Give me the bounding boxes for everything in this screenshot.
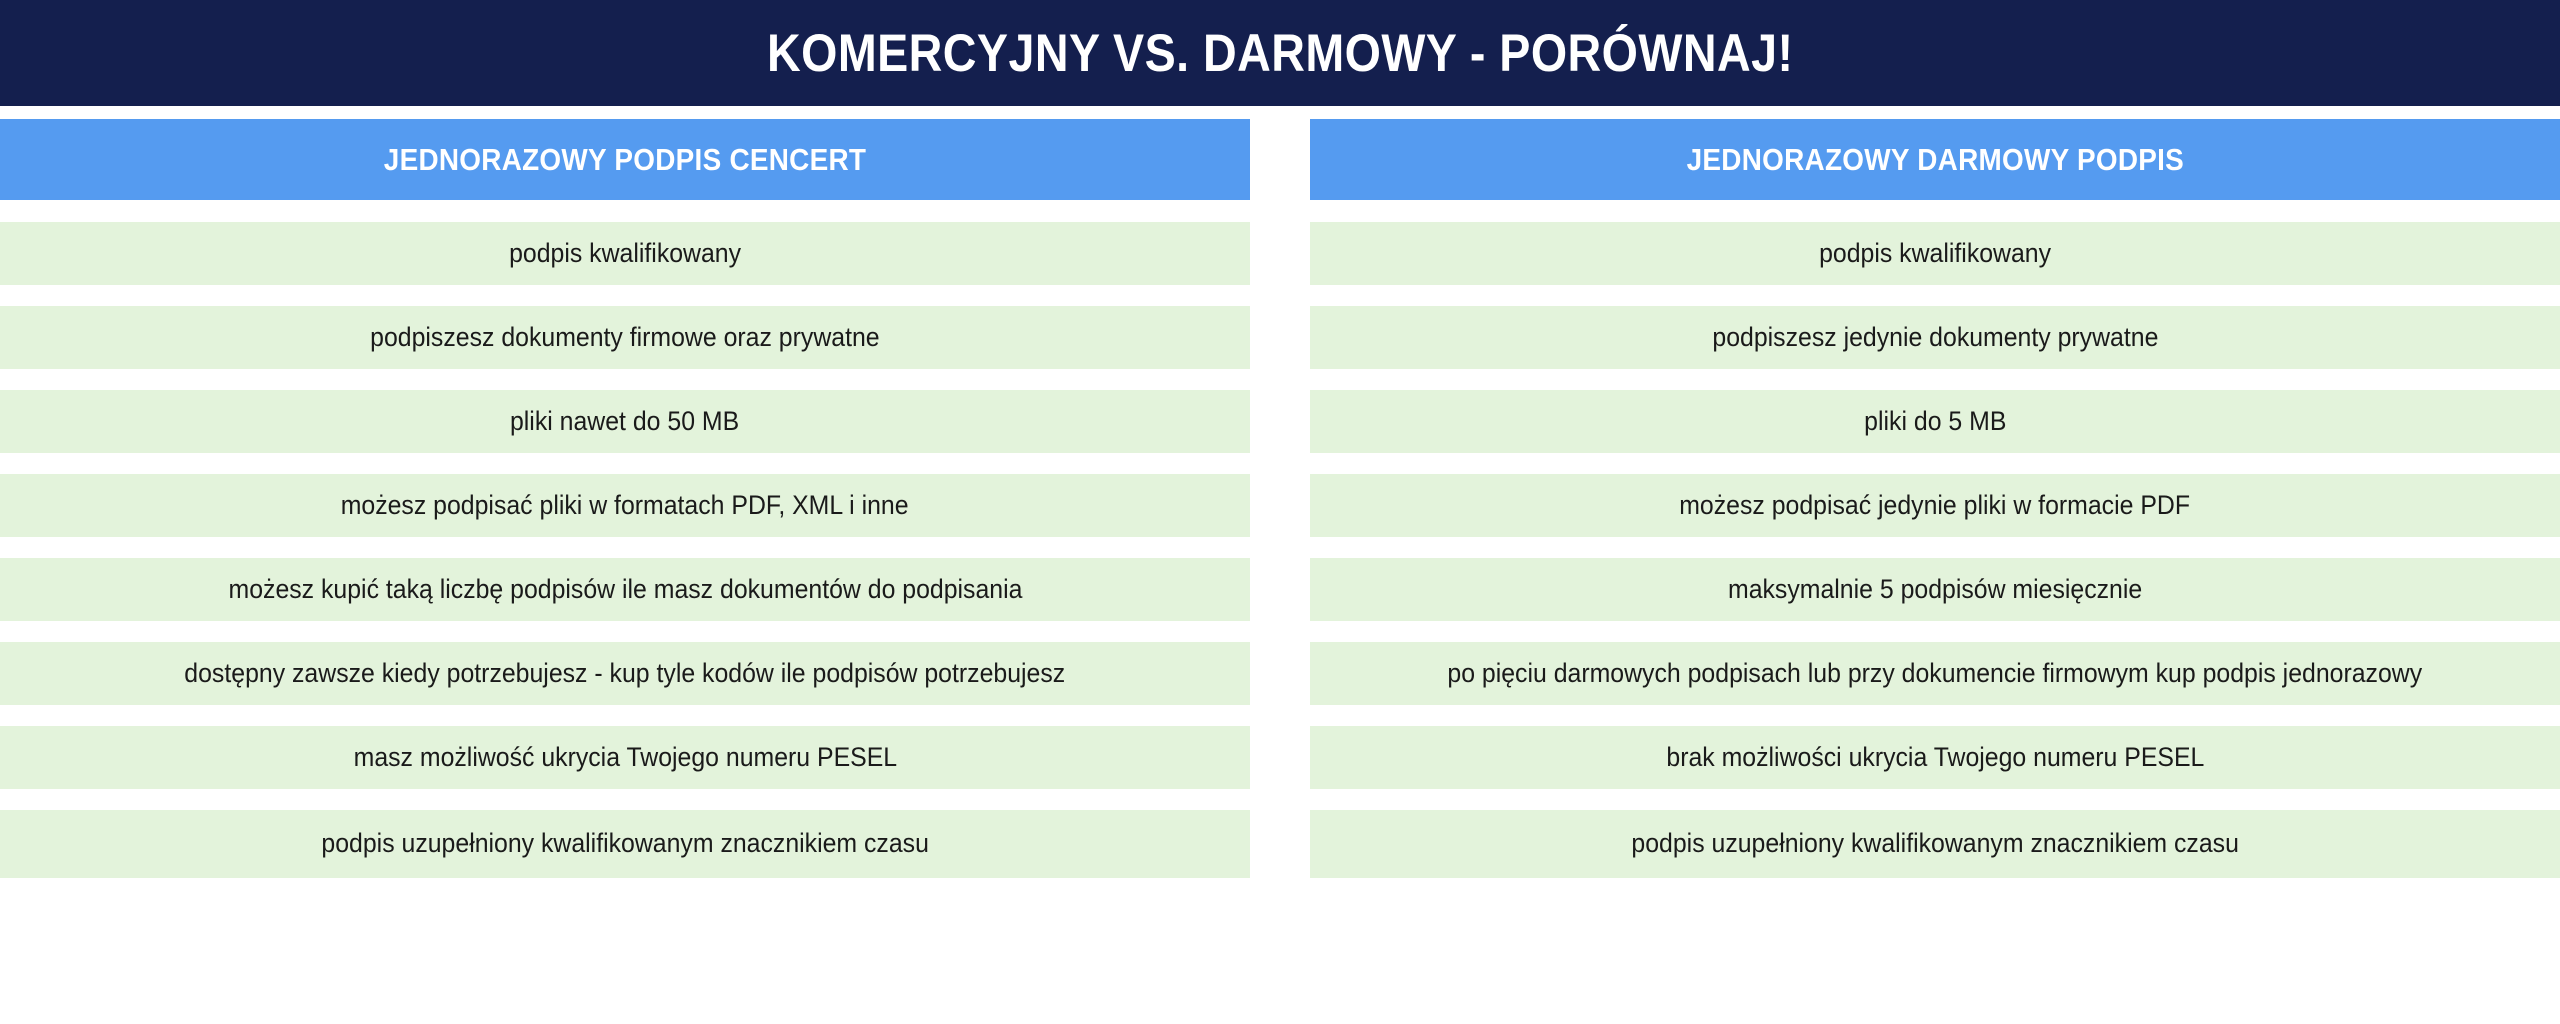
cell-text: podpis uzupełniony kwalifikowanym znaczn…	[312, 829, 938, 859]
table-row: podpis uzupełniony kwalifikowanym znaczn…	[0, 810, 1250, 878]
table-row: po pięciu darmowych podpisach lub przy d…	[1310, 642, 2560, 705]
cell-text: masz możliwość ukrycia Twojego numeru PE…	[344, 743, 906, 773]
cell-text: po pięciu darmowych podpisach lub przy d…	[1438, 659, 2431, 689]
table-row: brak możliwości ukrycia Twojego numeru P…	[1310, 726, 2560, 789]
column-header-free-label: JEDNORAZOWY DARMOWY PODPIS	[1686, 144, 2183, 175]
column-header-commercial-label: JEDNORAZOWY PODPIS CENCERT	[384, 144, 866, 175]
cell-text: dostępny zawsze kiedy potrzebujesz - kup…	[175, 659, 1074, 689]
cell-text: możesz podpisać jedynie pliki w formacie…	[1670, 491, 2199, 521]
table-row: możesz podpisać pliki w formatach PDF, X…	[0, 474, 1250, 537]
banner-title: KOMERCYJNY VS. DARMOWY - PORÓWNAJ!	[767, 27, 1793, 80]
column-gutter	[1250, 119, 1310, 1024]
cell-text: brak możliwości ukrycia Twojego numeru P…	[1657, 743, 2213, 773]
comparison-table: JEDNORAZOWY PODPIS CENCERT podpis kwalif…	[0, 106, 2560, 1024]
table-row: masz możliwość ukrycia Twojego numeru PE…	[0, 726, 1250, 789]
column-header-commercial: JEDNORAZOWY PODPIS CENCERT	[0, 119, 1250, 200]
cell-text: możesz kupić taką liczbę podpisów ile ma…	[219, 575, 1031, 605]
table-row: dostępny zawsze kiedy potrzebujesz - kup…	[0, 642, 1250, 705]
cell-text: podpis kwalifikowany	[500, 239, 750, 269]
table-row: podpiszesz dokumenty firmowe oraz prywat…	[0, 306, 1250, 369]
cell-text: podpis uzupełniony kwalifikowanym znaczn…	[1622, 829, 2248, 859]
table-row: maksymalnie 5 podpisów miesięcznie	[1310, 558, 2560, 621]
banner: KOMERCYJNY VS. DARMOWY - PORÓWNAJ!	[0, 0, 2560, 106]
table-row: podpis kwalifikowany	[0, 222, 1250, 285]
table-row: możesz podpisać jedynie pliki w formacie…	[1310, 474, 2560, 537]
table-row: podpiszesz jedynie dokumenty prywatne	[1310, 306, 2560, 369]
cell-text: podpiszesz jedynie dokumenty prywatne	[1703, 323, 2167, 353]
table-row: pliki nawet do 50 MB	[0, 390, 1250, 453]
comparison-column-commercial-rows: podpis kwalifikowany podpiszesz dokument…	[0, 222, 1250, 1024]
comparison-column-free-rows: podpis kwalifikowany podpiszesz jedynie …	[1310, 222, 2560, 1024]
cell-text: pliki do 5 MB	[1855, 407, 2016, 437]
cell-text: możesz podpisać pliki w formatach PDF, X…	[332, 491, 918, 521]
cell-text: podpis kwalifikowany	[1810, 239, 2060, 269]
table-row: możesz kupić taką liczbę podpisów ile ma…	[0, 558, 1250, 621]
table-row: pliki do 5 MB	[1310, 390, 2560, 453]
cell-text: pliki nawet do 50 MB	[501, 407, 749, 437]
cell-text: podpiszesz dokumenty firmowe oraz prywat…	[361, 323, 889, 353]
table-row: podpis kwalifikowany	[1310, 222, 2560, 285]
comparison-infographic: KOMERCYJNY VS. DARMOWY - PORÓWNAJ! JEDNO…	[0, 0, 2560, 1024]
table-row: podpis uzupełniony kwalifikowanym znaczn…	[1310, 810, 2560, 878]
comparison-column-free: JEDNORAZOWY DARMOWY PODPIS podpis kwalif…	[1310, 119, 2560, 1024]
comparison-column-commercial: JEDNORAZOWY PODPIS CENCERT podpis kwalif…	[0, 119, 1250, 1024]
cell-text: maksymalnie 5 podpisów miesięcznie	[1719, 575, 2152, 605]
column-header-free: JEDNORAZOWY DARMOWY PODPIS	[1310, 119, 2560, 200]
